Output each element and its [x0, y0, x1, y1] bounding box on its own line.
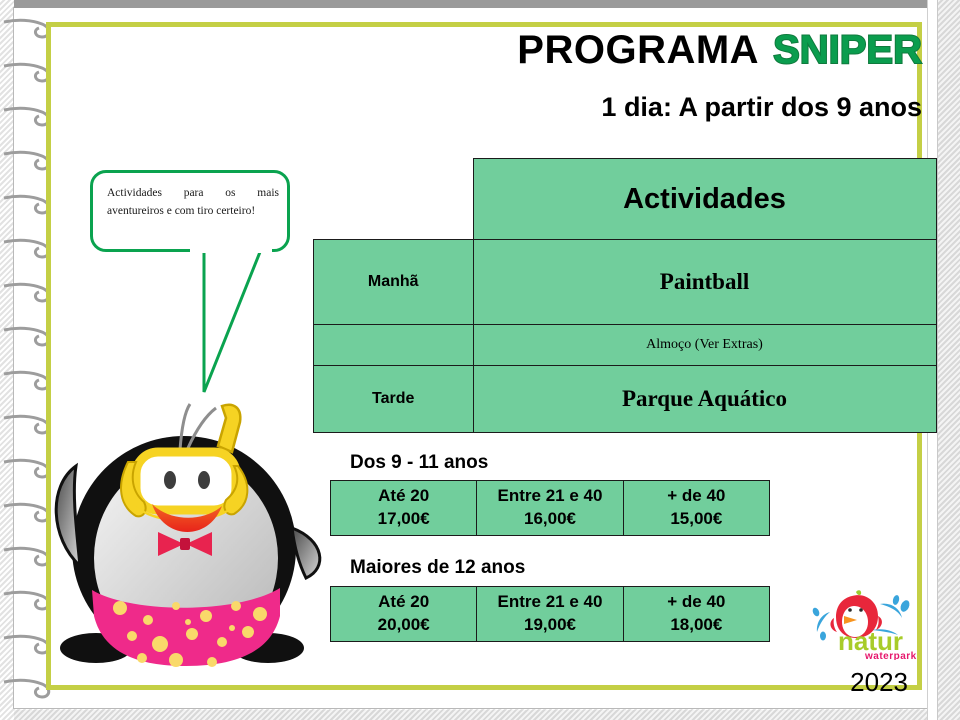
activities-header-cell: Actividades — [473, 159, 936, 240]
price-value: 17,00€ — [378, 509, 430, 528]
pricing-table-12-plus: Até 20 20,00€ Entre 21 e 40 19,00€ + de … — [330, 586, 770, 642]
year-label: 2023 — [850, 667, 908, 698]
price-value: 15,00€ — [670, 509, 722, 528]
snorkel-tube-icon — [218, 405, 240, 452]
penguin-mascot-illustration — [36, 400, 336, 672]
price-value: 16,00€ — [524, 509, 576, 528]
spacer-cell — [314, 159, 474, 240]
pricing-label-9-11: Dos 9 - 11 anos — [350, 452, 488, 474]
page-title: PROGRAMASNIPER — [430, 28, 922, 73]
activities-table: Actividades Manhã Paintball Almoço (Ver … — [313, 158, 930, 433]
activity-cell-lunch: Almoço (Ver Extras) — [473, 325, 936, 366]
price-range: Até 20 — [378, 486, 429, 505]
period-cell-morning: Manhã — [314, 240, 474, 325]
price-range: + de 40 — [667, 486, 725, 505]
paper-top-edge — [14, 0, 929, 8]
price-range: Até 20 — [378, 592, 429, 611]
price-cell: Entre 21 e 40 16,00€ — [477, 481, 623, 536]
price-cell: + de 40 18,00€ — [623, 587, 769, 642]
price-cell: Entre 21 e 40 19,00€ — [477, 587, 623, 642]
activity-cell-morning: Paintball — [473, 240, 936, 325]
callout-bubble: Actividades para os mais aventureiros e … — [90, 170, 290, 252]
price-cell: Até 20 20,00€ — [331, 587, 477, 642]
price-value: 19,00€ — [524, 615, 576, 634]
page-background: PROGRAMASNIPER 1 dia: A partir dos 9 ano… — [0, 0, 960, 720]
table-row-header: Actividades — [314, 159, 937, 240]
natur-waterpark-logo: natur waterpark — [810, 590, 930, 660]
price-range: Entre 21 e 40 — [498, 486, 603, 505]
price-range: + de 40 — [667, 592, 725, 611]
snorkel-mask-icon — [121, 452, 247, 522]
mascot-eye-left — [164, 471, 176, 489]
pricing-table-9-11: Até 20 17,00€ Entre 21 e 40 16,00€ + de … — [330, 480, 770, 536]
table-row: Tarde Parque Aquático — [314, 366, 937, 433]
table-row: Almoço (Ver Extras) — [314, 325, 937, 366]
price-cell: + de 40 15,00€ — [623, 481, 769, 536]
period-cell-afternoon: Tarde — [314, 366, 474, 433]
callout-bubble-tail — [160, 248, 280, 396]
period-cell-lunch — [314, 325, 474, 366]
page-subtitle: 1 dia: A partir dos 9 anos — [430, 92, 922, 123]
table-row: Até 20 17,00€ Entre 21 e 40 16,00€ + de … — [331, 481, 770, 536]
price-cell: Até 20 17,00€ — [331, 481, 477, 536]
callout-text: Actividades para os mais aventureiros e … — [107, 185, 279, 221]
mascot-wing-right — [292, 528, 320, 578]
mascot-eye-right — [198, 471, 210, 489]
title-accent: SNIPER — [773, 28, 922, 72]
paper-right-edge — [937, 0, 960, 720]
logo-tagline: waterpark — [864, 651, 917, 660]
mascot-wing-left — [56, 466, 80, 566]
title-main: PROGRAMA — [517, 28, 759, 72]
table-row: Até 20 20,00€ Entre 21 e 40 19,00€ + de … — [331, 587, 770, 642]
activity-cell-afternoon: Parque Aquático — [473, 366, 936, 433]
price-value: 18,00€ — [670, 615, 722, 634]
pricing-label-12-plus: Maiores de 12 anos — [350, 557, 525, 579]
paper-bottom-edge — [14, 710, 929, 720]
price-value: 20,00€ — [378, 615, 430, 634]
price-range: Entre 21 e 40 — [498, 592, 603, 611]
table-row: Manhã Paintball — [314, 240, 937, 325]
